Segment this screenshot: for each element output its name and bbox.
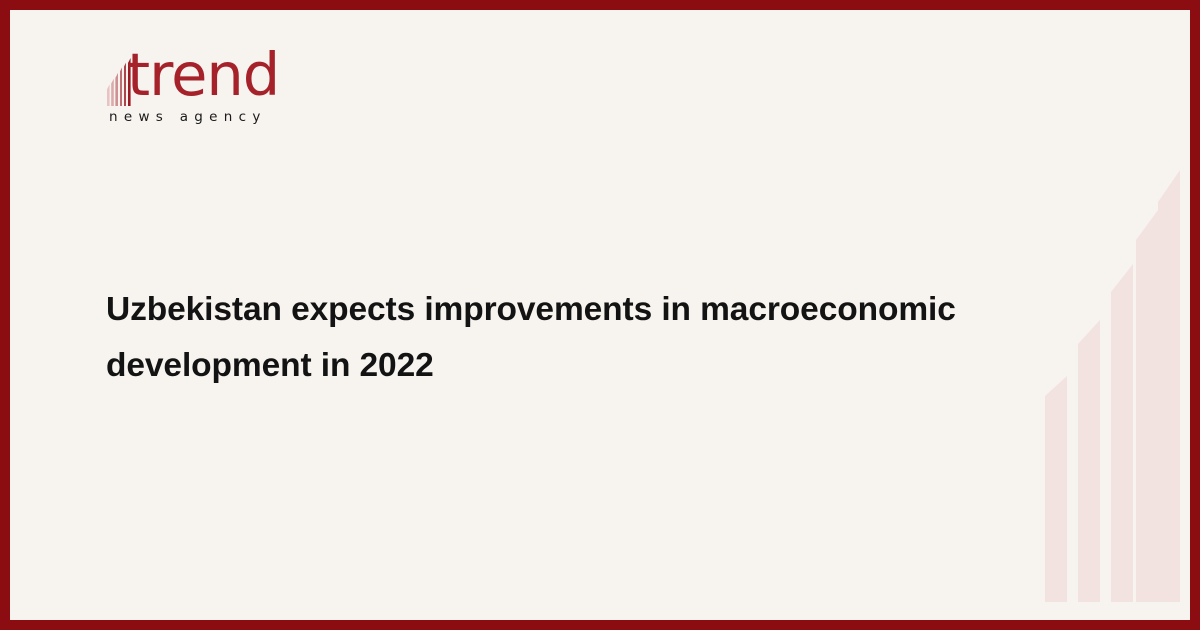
decorative-bar — [1045, 376, 1067, 602]
card-canvas: trend news agency Uzbekistan expects imp… — [10, 10, 1190, 620]
headline-line-2: development in 2022 — [106, 338, 1096, 394]
logo-mark-bar — [120, 67, 123, 106]
headline-line-1: Uzbekistan expects improvements in macro… — [106, 282, 1096, 338]
decorative-bar — [1111, 264, 1133, 602]
brand-tagline: news agency — [109, 109, 267, 125]
brand-wordmark: trend — [127, 45, 279, 104]
logo-mark-bar — [115, 73, 118, 106]
logo-mark-bar — [111, 79, 114, 106]
brand-logo[interactable]: trend news agency — [107, 54, 307, 139]
page-title: Uzbekistan expects improvements in macro… — [106, 282, 1096, 394]
social-share-card: trend news agency Uzbekistan expects imp… — [0, 0, 1200, 630]
logo-mark-bar — [124, 62, 127, 106]
decorative-bar — [1136, 210, 1158, 602]
logo-mark-bar — [107, 84, 110, 106]
decorative-bar — [1158, 170, 1180, 602]
